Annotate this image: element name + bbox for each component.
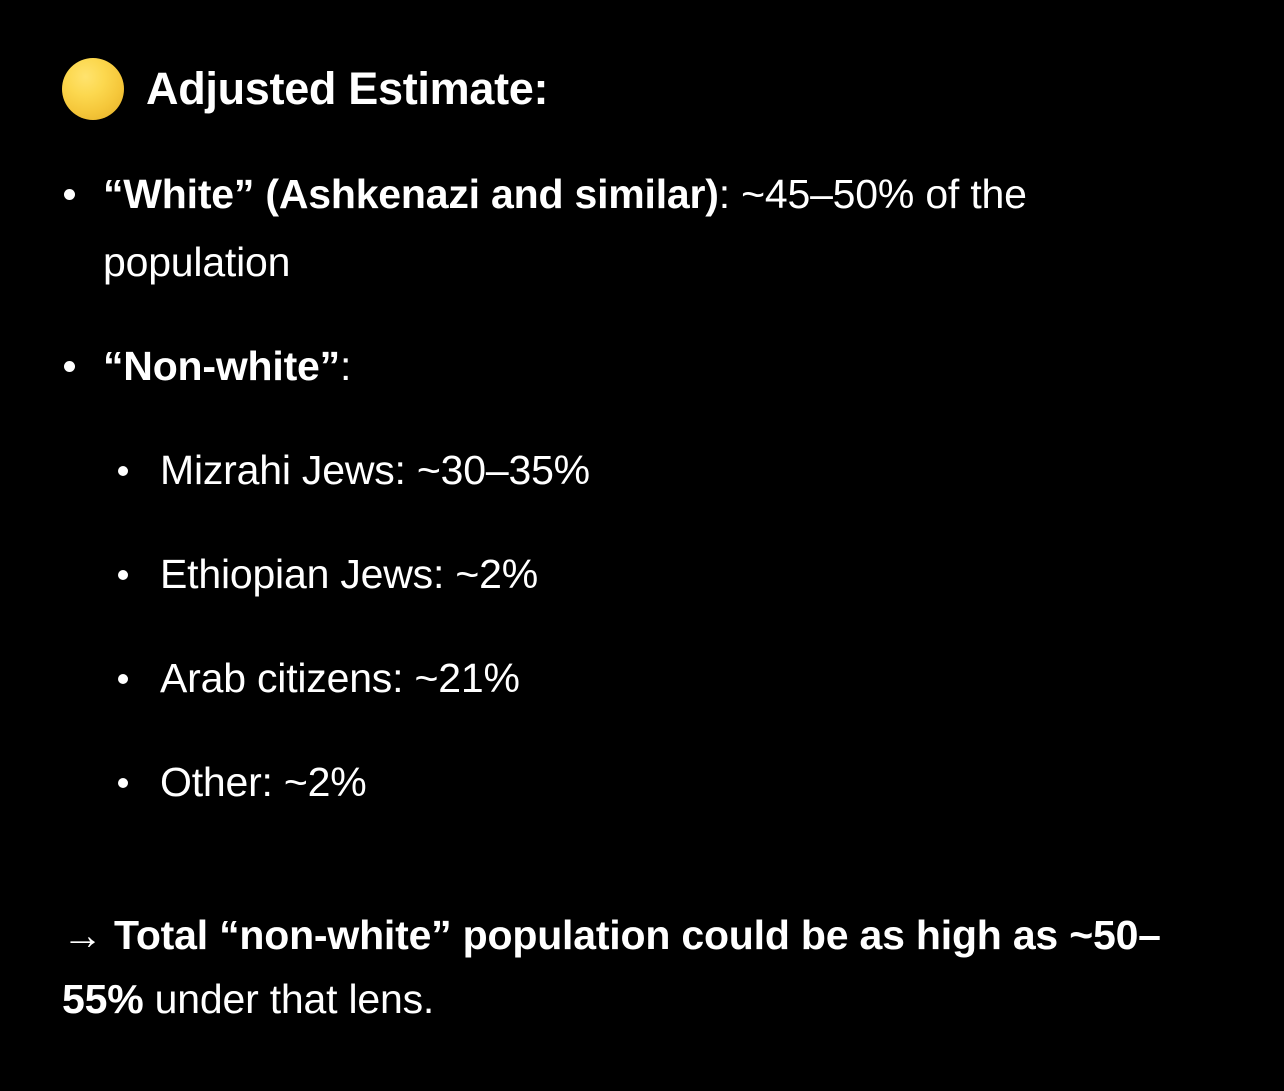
conclusion-paragraph: → Total “non-white” population could be …	[62, 903, 1182, 1031]
list-item-label: Other: ~2%	[160, 759, 367, 805]
right-arrow-icon: →	[62, 912, 103, 958]
list-item: Other: ~2%	[0, 748, 1284, 816]
list-item-label-bold: “Non-white”	[103, 343, 340, 389]
list-item-label-bold: “White” (Ashkenazi and similar)	[103, 171, 719, 217]
bullet-list: “White” (Ashkenazi and similar): ~45–50%…	[0, 160, 1284, 816]
list-item-label: Arab citizens: ~21%	[160, 655, 520, 701]
list-item-label-regular: :	[340, 343, 351, 389]
list-item: “White” (Ashkenazi and similar): ~45–50%…	[0, 160, 1284, 296]
list-item: “Non-white”:	[0, 332, 1284, 400]
list-item: Ethiopian Jews: ~2%	[0, 540, 1284, 608]
list-item-label: Ethiopian Jews: ~2%	[160, 551, 538, 597]
list-item-label: Mizrahi Jews: ~30–35%	[160, 447, 590, 493]
nested-bullet-list: Mizrahi Jews: ~30–35% Ethiopian Jews: ~2…	[0, 436, 1284, 816]
list-item: Arab citizens: ~21%	[0, 644, 1284, 712]
page-title: Adjusted Estimate:	[146, 65, 548, 112]
heading-row: Adjusted Estimate:	[62, 58, 548, 120]
list-item: Mizrahi Jews: ~30–35%	[0, 436, 1284, 504]
slide-canvas: Adjusted Estimate: “White” (Ashkenazi an…	[0, 0, 1284, 1091]
conclusion-regular-text: under that lens.	[143, 976, 434, 1022]
yellow-circle-icon	[62, 58, 124, 120]
